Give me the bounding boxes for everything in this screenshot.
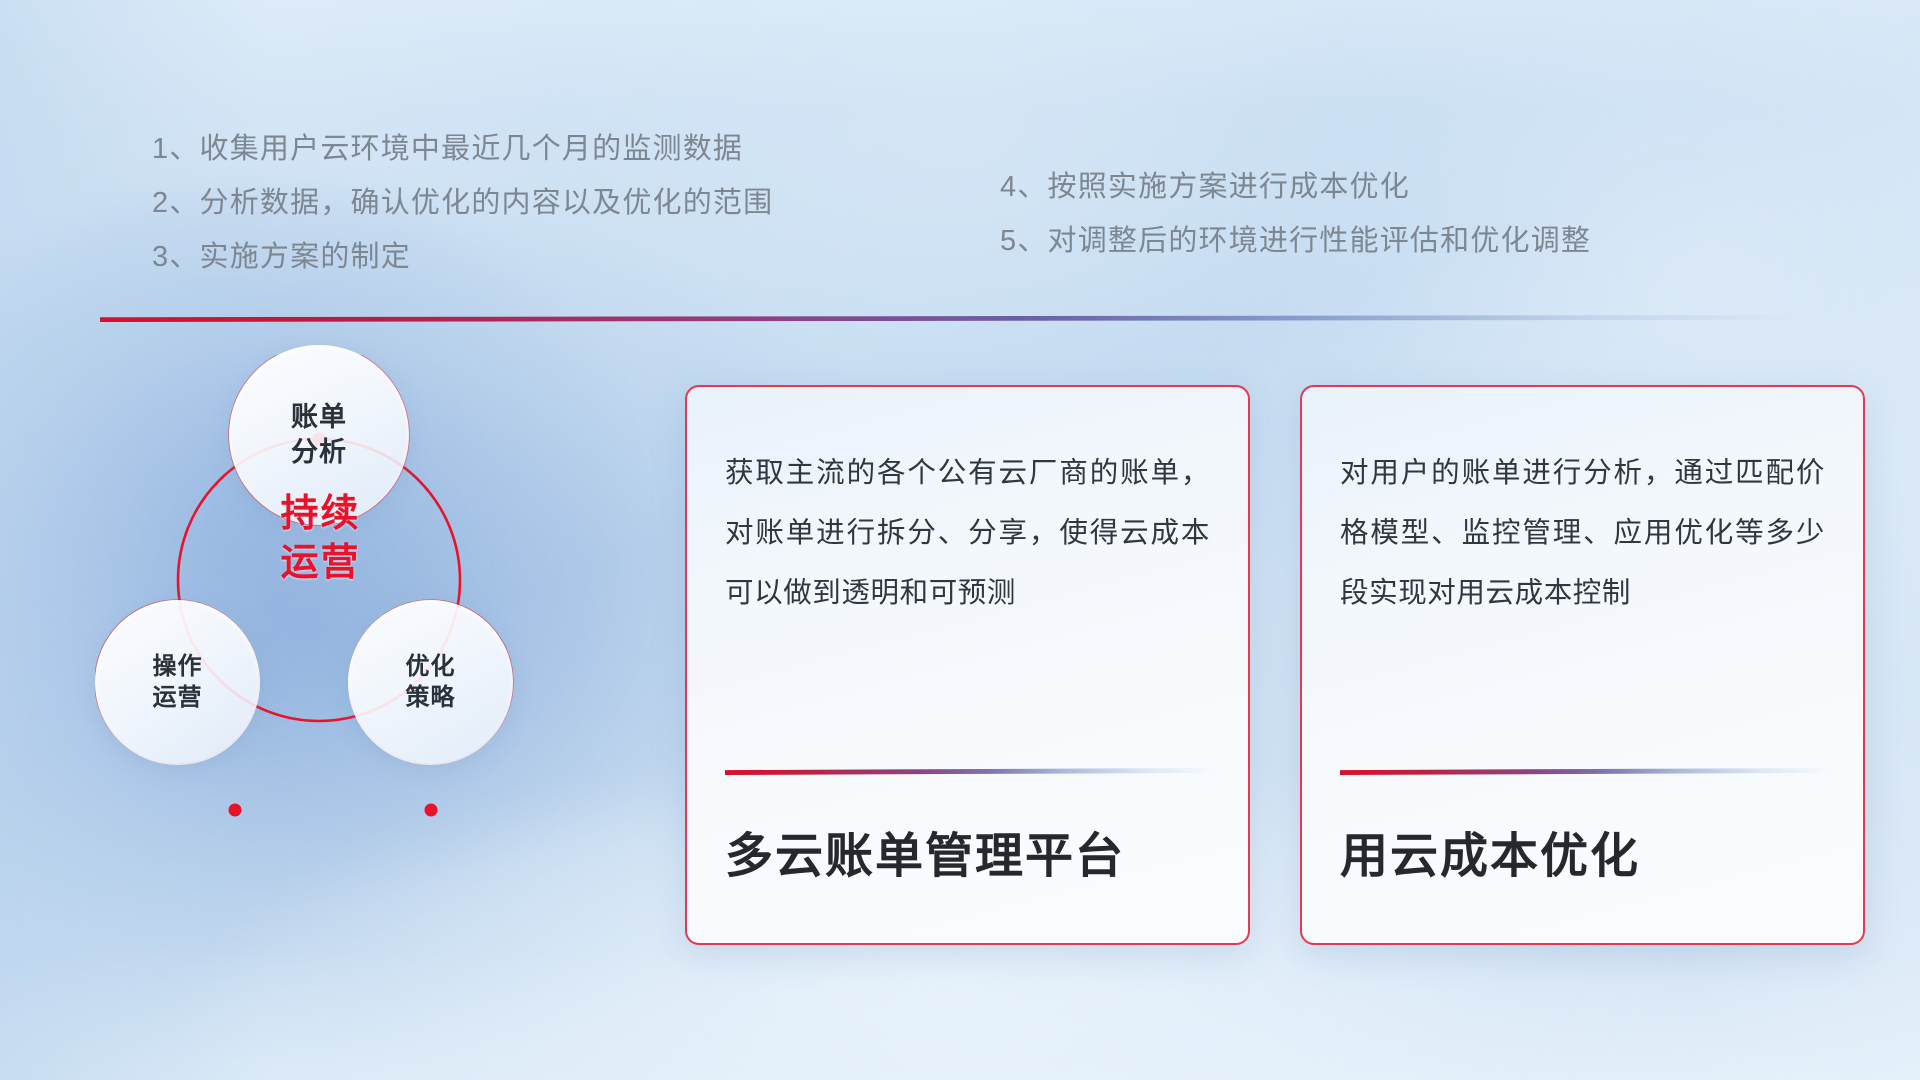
card-body-text: 对用户的账单进行分析，通过匹配价格模型、监控管理、应用优化等多少段实现对用云成本…	[1340, 443, 1825, 693]
continuous-operation-diagram: 账单 分析 操作 运营 优化 策略 持续 运营	[95, 355, 655, 955]
center-label-line1: 持续	[228, 490, 413, 539]
node-dot-right	[425, 804, 438, 817]
bubble-label-line2: 分析	[291, 435, 347, 470]
bubble-label-line1: 操作	[153, 652, 203, 683]
bubble-label-line2: 策略	[406, 683, 456, 714]
bubble-label-line1: 优化	[406, 652, 456, 683]
diagram-center-label: 持续 运营	[228, 490, 413, 587]
card-divider-rule	[1340, 768, 1830, 775]
steps-column-right: 4、按照实施方案进行成本优化 5、对调整后的环境进行性能评估和优化调整	[1000, 160, 1591, 268]
bubble-label-line1: 账单	[291, 400, 347, 435]
slide-canvas: 1、收集用户云环境中最近几个月的监测数据 2、分析数据，确认优化的内容以及优化的…	[0, 0, 1920, 1080]
node-dot-left	[229, 804, 242, 817]
bubble-operation[interactable]: 操作 运营	[95, 600, 260, 765]
list-item: 3、实施方案的制定	[152, 230, 773, 284]
card-title: 多云账单管理平台	[725, 833, 1210, 881]
bubble-optimization-strategy[interactable]: 优化 策略	[348, 600, 513, 765]
list-item: 2、分析数据，确认优化的内容以及优化的范围	[152, 176, 773, 230]
card-multicloud-billing-platform[interactable]: 获取主流的各个公有云厂商的账单，对账单进行拆分、分享，使得云成本可以做到透明和可…	[685, 385, 1250, 945]
list-item: 1、收集用户云环境中最近几个月的监测数据	[152, 122, 773, 176]
center-label-line2: 运营	[228, 539, 413, 588]
card-title: 用云成本优化	[1340, 833, 1825, 881]
steps-column-left: 1、收集用户云环境中最近几个月的监测数据 2、分析数据，确认优化的内容以及优化的…	[152, 122, 773, 284]
list-item: 5、对调整后的环境进行性能评估和优化调整	[1000, 214, 1591, 268]
card-cloud-cost-optimization[interactable]: 对用户的账单进行分析，通过匹配价格模型、监控管理、应用优化等多少段实现对用云成本…	[1300, 385, 1865, 945]
card-divider-rule	[725, 768, 1215, 775]
bubble-label-line2: 运营	[153, 683, 203, 714]
list-item: 4、按照实施方案进行成本优化	[1000, 160, 1591, 214]
card-body-text: 获取主流的各个公有云厂商的账单，对账单进行拆分、分享，使得云成本可以做到透明和可…	[725, 443, 1210, 693]
